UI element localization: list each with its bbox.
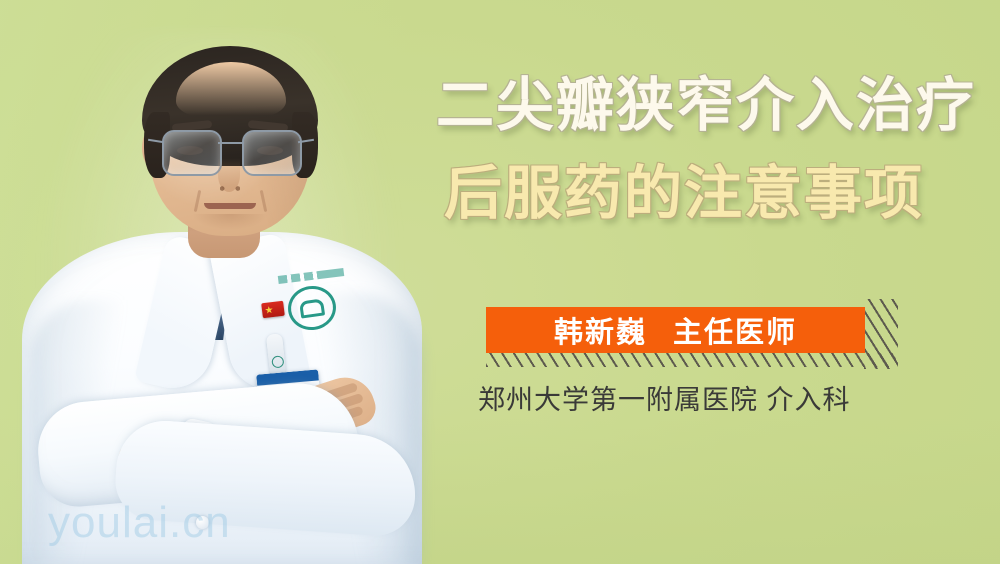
- headline-line-1: 二尖瓣狭窄介入治疗: [420, 62, 976, 150]
- presenter-name: 韩新巍: [554, 317, 647, 349]
- chin-shading: [192, 214, 268, 230]
- eyeglasses-bridge: [218, 142, 242, 144]
- headline-block: 二尖瓣狭窄介入治疗 后服药的注意事项: [420, 62, 976, 238]
- headline-line-2: 后服药的注意事项: [420, 150, 976, 238]
- photo-watermark: youlai.cn: [48, 498, 231, 548]
- diagonal-hatch-underline-icon: [486, 353, 896, 367]
- nostrils: [216, 186, 244, 191]
- banner-image: youlai.cn 二尖瓣狭窄介入治疗 后服药的注意事项 韩新巍主任医师 郑州大…: [0, 0, 1000, 564]
- mouth: [204, 203, 256, 209]
- eyeglasses-lens-left: [162, 130, 222, 176]
- presenter-name-and-title: 韩新巍主任医师: [554, 309, 797, 351]
- presenter-name-badge: 韩新巍主任医师: [486, 307, 865, 353]
- presenter-title: 主任医师: [673, 317, 797, 349]
- presenter-affiliation: 郑州大学第一附属医院 介入科: [478, 378, 898, 417]
- eyeglasses-lens-right: [242, 130, 302, 176]
- doctor-photo: youlai.cn: [0, 0, 430, 564]
- party-emblem-pin-icon: [261, 301, 285, 319]
